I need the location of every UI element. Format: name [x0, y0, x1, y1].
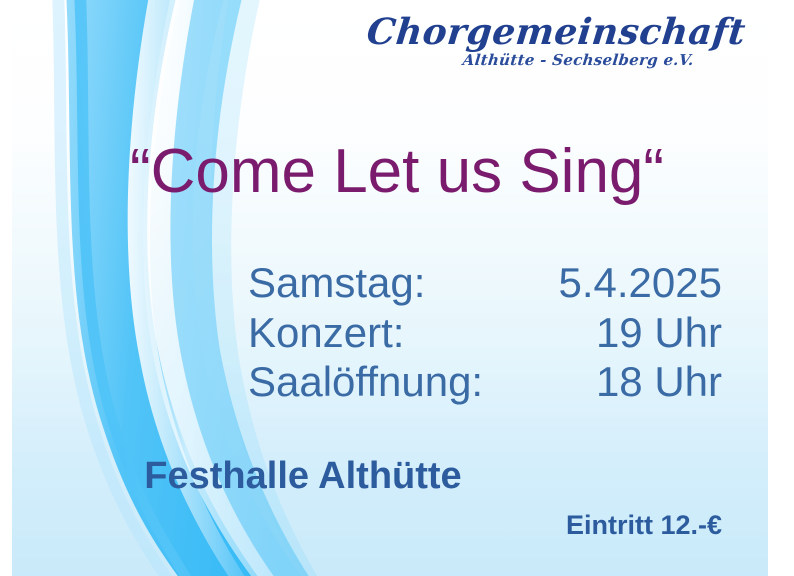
detail-label-doors: Saalöffnung: [248, 357, 483, 407]
detail-value-concert: 19 Uhr [596, 308, 722, 358]
ticket-price: Eintritt 12.-€ [566, 510, 722, 541]
venue-name: Festhalle Althütte [0, 455, 606, 498]
choir-logo-subtitle: Althütte - Sechselberg e.V. [411, 53, 747, 68]
choir-logo-name: Chorgemeinschaft [366, 14, 748, 50]
detail-row: Samstag: 5.4.2025 [248, 258, 722, 308]
detail-label-concert: Konzert: [248, 308, 404, 358]
event-details: Samstag: 5.4.2025 Konzert: 19 Uhr Saalöf… [248, 258, 722, 407]
detail-value-date: 5.4.2025 [559, 258, 723, 308]
choir-logo: Chorgemeinschaft Althütte - Sechselberg … [367, 14, 746, 68]
detail-value-doors: 18 Uhr [596, 357, 722, 407]
detail-row: Konzert: 19 Uhr [248, 308, 722, 358]
detail-row: Saalöffnung: 18 Uhr [248, 357, 722, 407]
poster-headline: “Come Let us Sing“ [0, 136, 794, 207]
concert-poster: Chorgemeinschaft Althütte - Sechselberg … [0, 0, 794, 576]
detail-label-date: Samstag: [248, 258, 425, 308]
right-white-margin [768, 0, 794, 576]
